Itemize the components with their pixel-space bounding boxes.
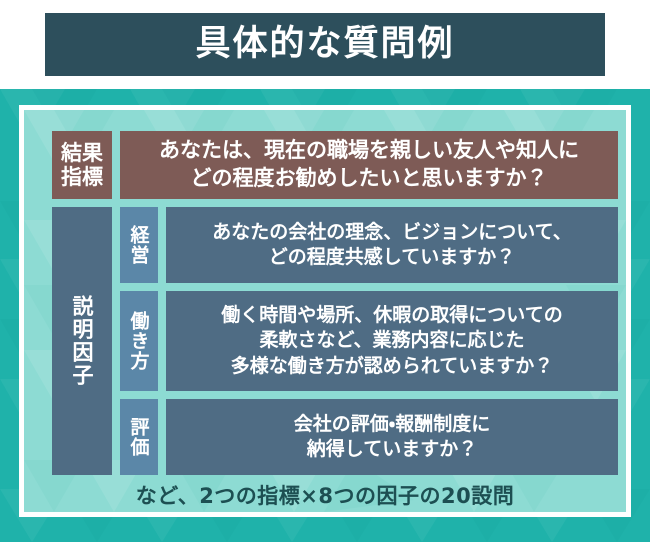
factor-group-label-text: 説明因子 <box>67 295 97 387</box>
row-label-workstyle: 働き方 <box>120 291 158 391</box>
row-label-evaluation-text: 評価 <box>126 417 153 457</box>
title-banner: 具体的な質問例 <box>45 13 605 76</box>
table-row-result: 結果指標 あなたは、現在の職場を親しい友人や知人に どの程度お勧めしたいと思いま… <box>52 131 618 199</box>
question-line: 納得していますか？ <box>294 437 490 462</box>
row-label-result: 結果指標 <box>52 131 112 199</box>
row-question-workstyle: 働く時間や場所、休暇の取得についての 柔軟さなど、業務内容に応じた 多様な働き方… <box>166 291 618 391</box>
row-label-management: 経営 <box>120 207 158 283</box>
question-table: 結果指標 あなたは、現在の職場を親しい友人や知人に どの程度お勧めしたいと思いま… <box>52 131 618 475</box>
row-question-result: あなたは、現在の職場を親しい友人や知人に どの程度お勧めしたいと思いますか？ <box>120 131 618 199</box>
question-line: あなたの会社の理念、ビジョンについて、 <box>212 220 571 245</box>
footer-note: など、2つの指標×8つの因子の20設問 <box>24 480 626 510</box>
question-line: どの程度お勧めしたいと思いますか？ <box>159 165 579 193</box>
question-line: 多様な働き方が認められていますか？ <box>221 354 562 379</box>
page-title: 具体的な質問例 <box>195 27 454 62</box>
question-line: あなたは、現在の職場を親しい友人や知人に <box>159 137 579 165</box>
factor-group-label: 説明因子 <box>52 207 112 475</box>
question-line: 会社の評価・報酬制度に <box>294 412 490 437</box>
row-question-management: あなたの会社の理念、ビジョンについて、 どの程度共感していますか？ <box>166 207 618 283</box>
row-label-workstyle-text: 働き方 <box>126 311 153 371</box>
question-line: 働く時間や場所、休暇の取得についての <box>221 303 562 328</box>
question-line: どの程度共感していますか？ <box>212 245 571 270</box>
table-row-management: 経営 あなたの会社の理念、ビジョンについて、 どの程度共感していますか？ <box>120 207 618 283</box>
table-row-workstyle: 働き方 働く時間や場所、休暇の取得についての 柔軟さなど、業務内容に応じた 多様… <box>120 291 618 391</box>
row-label-management-text: 経営 <box>126 225 153 265</box>
row-label-result-text: 結果指標 <box>52 141 112 189</box>
table-row-evaluation: 評価 会社の評価・報酬制度に 納得していますか？ <box>120 399 618 475</box>
row-label-evaluation: 評価 <box>120 399 158 475</box>
row-question-evaluation: 会社の評価・報酬制度に 納得していますか？ <box>166 399 618 475</box>
slide-root: 具体的な質問例 <box>0 0 650 542</box>
question-line: 柔軟さなど、業務内容に応じた <box>221 328 562 353</box>
